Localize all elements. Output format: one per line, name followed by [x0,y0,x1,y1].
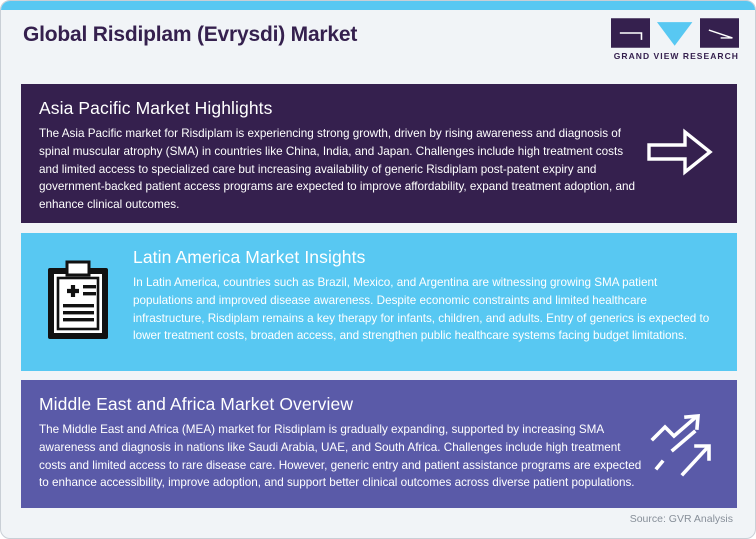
panel-asia-pacific: Asia Pacific Market Highlights The Asia … [21,84,737,223]
panel-middle-east-africa: Middle East and Africa Market Overview T… [21,380,737,508]
panel-heading-middle-east-africa: Middle East and Africa Market Overview [39,394,719,414]
panel-body-latin-america: In Latin America, countries such as Braz… [133,274,719,345]
header: Global Risdiplam (Evrysdi) Market GRAND … [1,10,756,76]
panel-body-asia-pacific: The Asia Pacific market for Risdiplam is… [39,125,639,214]
logo-wordmark: GRAND VIEW RESEARCH [611,51,739,61]
source-note: Source: GVR Analysis [630,513,733,525]
infographic-root: Global Risdiplam (Evrysdi) Market GRAND … [0,0,756,539]
logo-marks [611,18,739,48]
logo-mark-r-icon [700,18,739,48]
top-accent-strip [1,1,756,10]
growth-arrows-icon [643,412,717,482]
page-title: Global Risdiplam (Evrysdi) Market [23,23,357,47]
logo-mark-v-triangle-icon [655,18,694,48]
grand-view-research-logo: GRAND VIEW RESEARCH [611,18,739,66]
medical-clipboard-icon [45,260,111,342]
right-arrow-icon [647,126,713,178]
panel-latin-america: Latin America Market Insights In Latin A… [21,233,737,371]
panel-body-middle-east-africa: The Middle East and Africa (MEA) market … [39,421,647,492]
logo-mark-g-icon [611,18,650,48]
panel-heading-asia-pacific: Asia Pacific Market Highlights [39,98,719,118]
panel-heading-latin-america: Latin America Market Insights [133,247,719,267]
